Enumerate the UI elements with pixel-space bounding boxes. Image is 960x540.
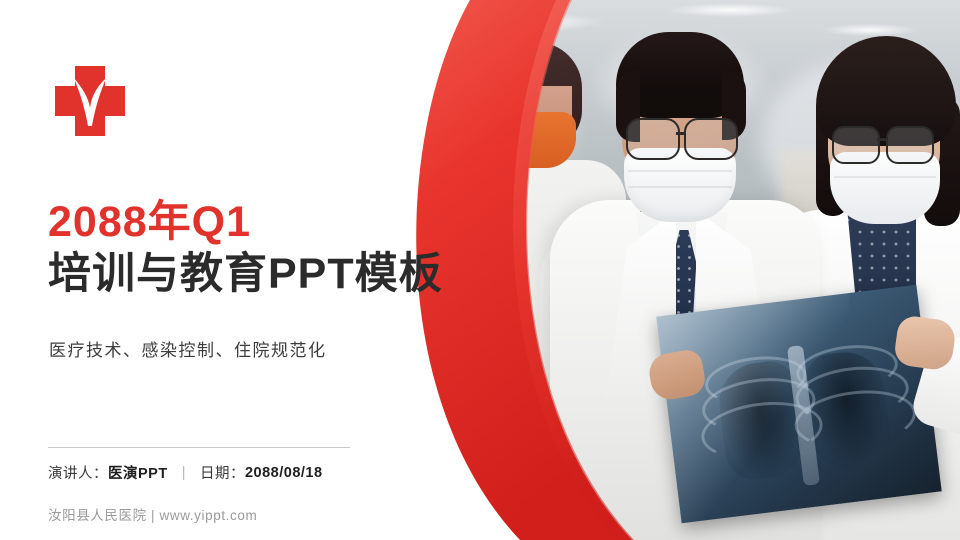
xray-glare — [656, 285, 852, 523]
face-mask-pleat — [628, 186, 732, 188]
eyeglasses-icon — [626, 118, 680, 160]
presentation-slide: 2088年Q1 培训与教育PPT模板 医疗技术、感染控制、住院规范化 演讲人： … — [0, 0, 960, 540]
eyeglasses-icon — [684, 118, 738, 160]
footer-text: 汝阳县人民医院 | www.yippt.com — [48, 504, 257, 524]
meta-row: 演讲人： 医演PPT | 日期： 2088/08/18 — [48, 462, 323, 483]
eyeglasses-icon — [832, 126, 880, 164]
eyeglasses-bridge — [877, 138, 886, 141]
face-mask-pleat — [628, 170, 732, 172]
date-value: 2088/08/18 — [245, 465, 323, 481]
eyeglasses-bridge — [676, 132, 686, 135]
title-block: 2088年Q1 培训与教育PPT模板 — [48, 198, 518, 300]
date-label: 日期： — [200, 462, 245, 483]
divider — [48, 447, 350, 448]
red-medical-cross-logo — [48, 64, 132, 138]
hospital-logo — [48, 64, 132, 138]
face-mask-pleat — [834, 176, 936, 178]
chest-xray-film — [656, 285, 941, 523]
meta-separator: | — [182, 465, 186, 481]
presenter-value: 医演PPT — [108, 462, 168, 483]
orange-mask-icon — [492, 112, 576, 168]
presenter-label: 演讲人： — [48, 462, 108, 483]
page-title-secondary: 培训与教育PPT模板 — [48, 250, 518, 300]
page-title-primary: 2088年Q1 — [48, 198, 518, 248]
eyeglasses-icon — [886, 126, 934, 164]
subtitle: 医疗技术、感染控制、住院规范化 — [49, 336, 327, 361]
